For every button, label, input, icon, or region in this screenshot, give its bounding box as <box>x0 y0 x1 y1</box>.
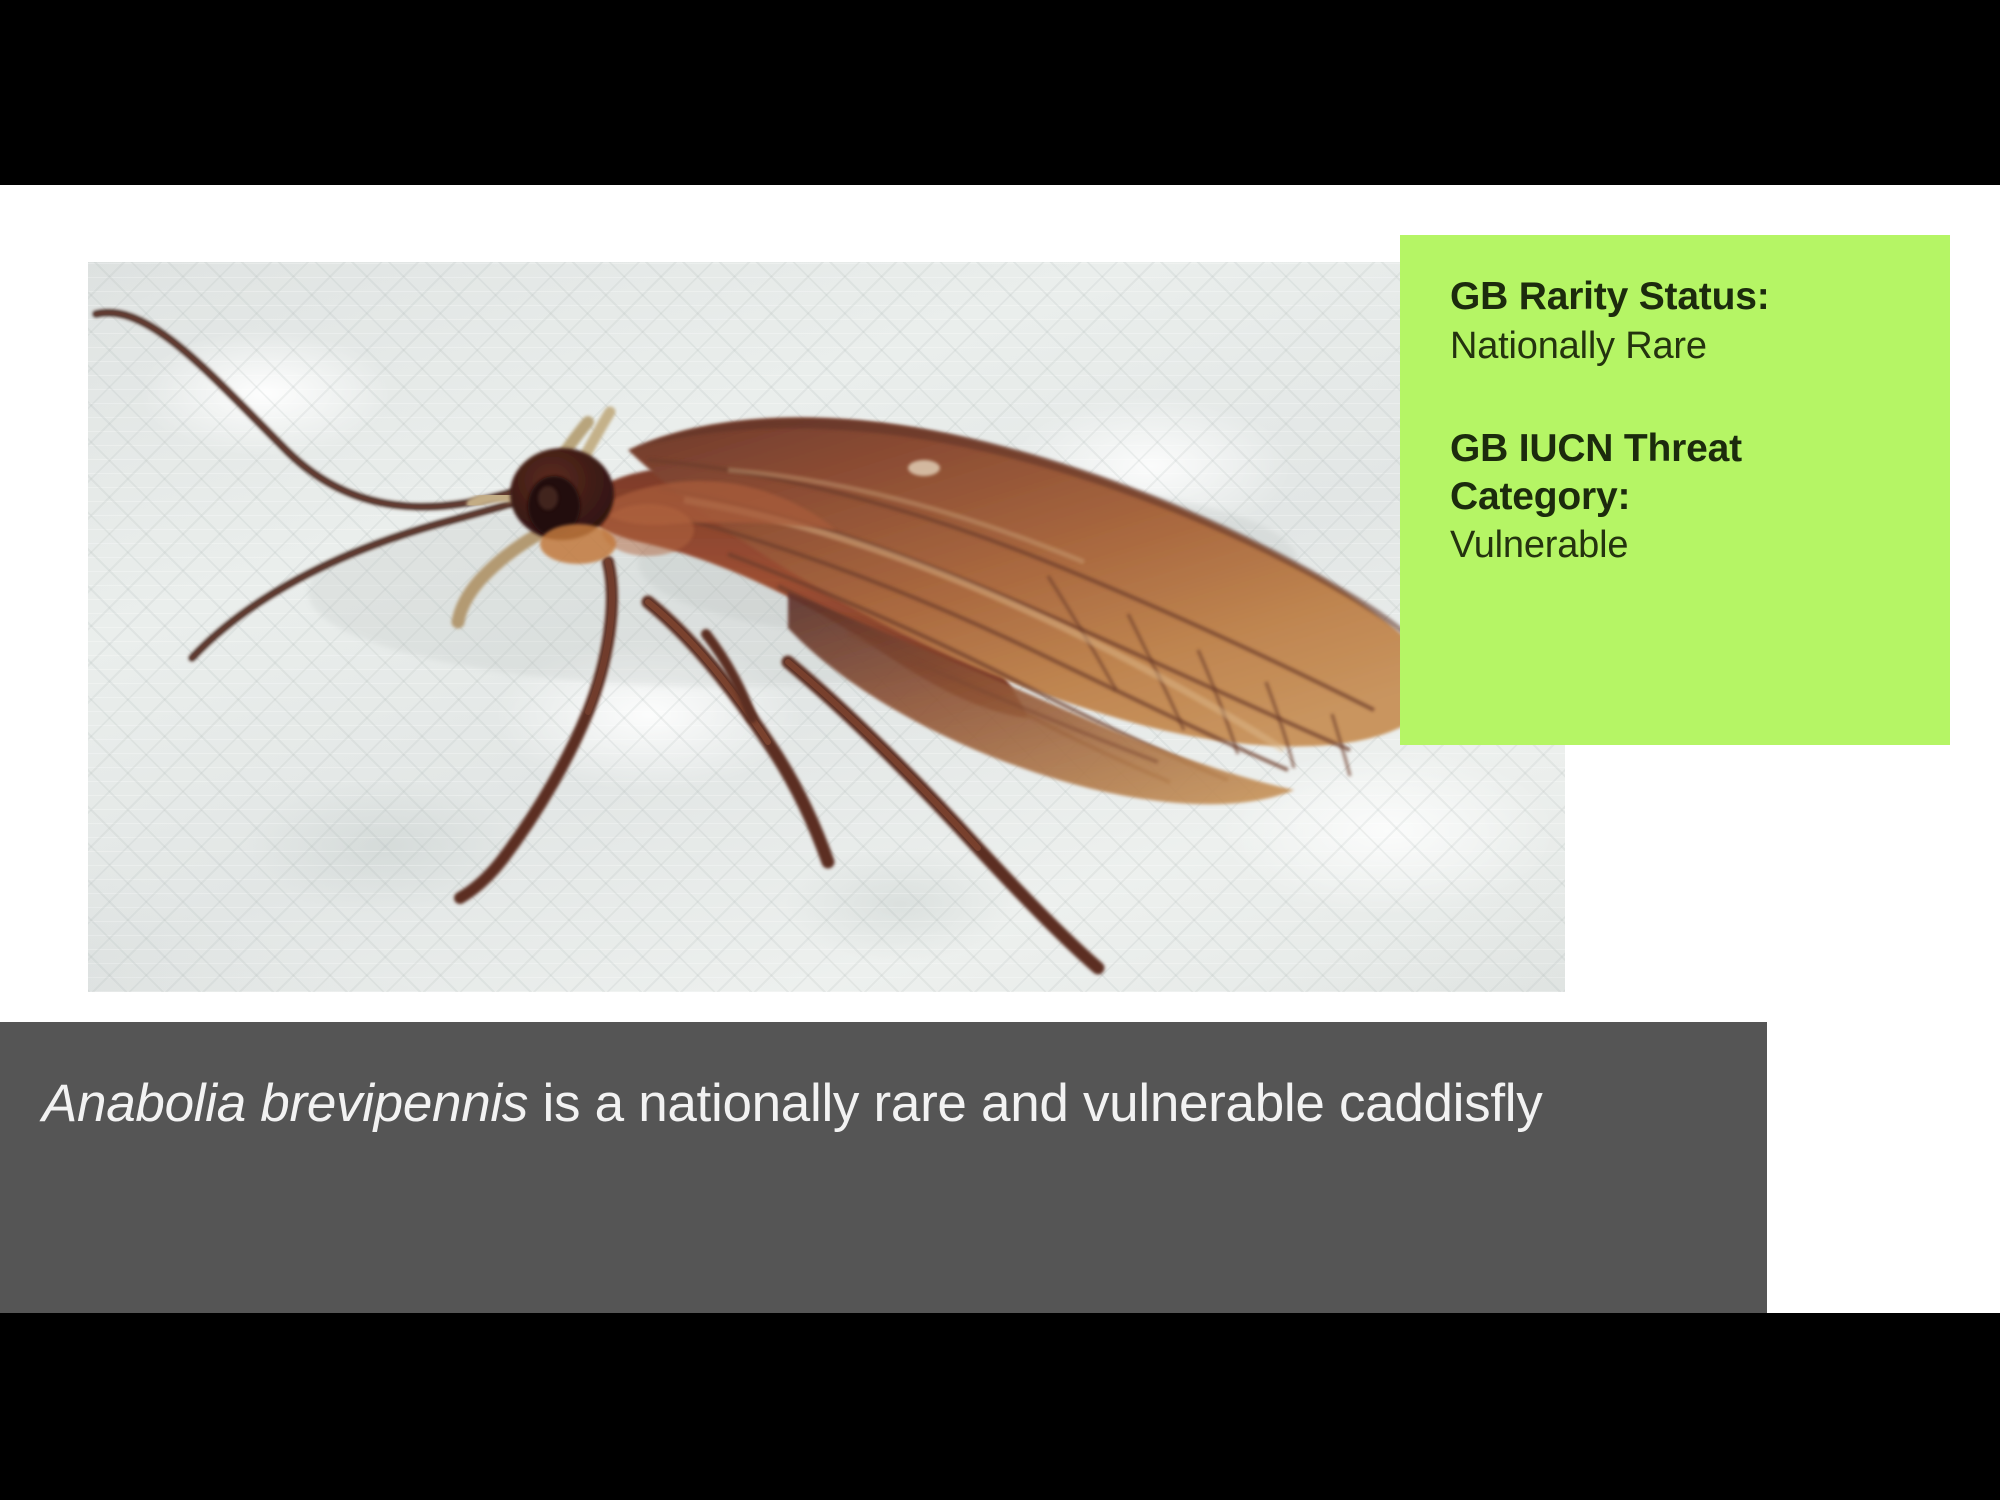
gb-rarity-status-label: GB Rarity Status: <box>1450 273 1916 321</box>
gb-rarity-status-block: GB Rarity Status: Nationally Rare <box>1450 273 1916 369</box>
caption-bar: Anabolia brevipennis is a nationally rar… <box>0 1022 1767 1313</box>
gb-iucn-threat-category-block: GB IUCN Threat Category: Vulnerable <box>1450 425 1916 569</box>
slide-canvas: GB Rarity Status: Nationally Rare GB IUC… <box>0 0 2000 1500</box>
photo-vignette <box>88 262 1565 992</box>
rarity-status-box: GB Rarity Status: Nationally Rare GB IUC… <box>1400 235 1950 745</box>
caption-species-name: Anabolia brevipennis <box>42 1074 528 1133</box>
gb-iucn-threat-category-label: GB IUCN Threat Category: <box>1450 425 1916 520</box>
caddisfly-photo <box>88 262 1565 992</box>
caption-text: Anabolia brevipennis is a nationally rar… <box>42 1070 1707 1139</box>
caption-remainder: is a nationally rare and vulnerable cadd… <box>528 1074 1542 1133</box>
gb-rarity-status-value: Nationally Rare <box>1450 323 1916 369</box>
letterbox-bottom <box>0 1313 2000 1500</box>
letterbox-top <box>0 0 2000 185</box>
gb-iucn-threat-category-value: Vulnerable <box>1450 522 1916 568</box>
